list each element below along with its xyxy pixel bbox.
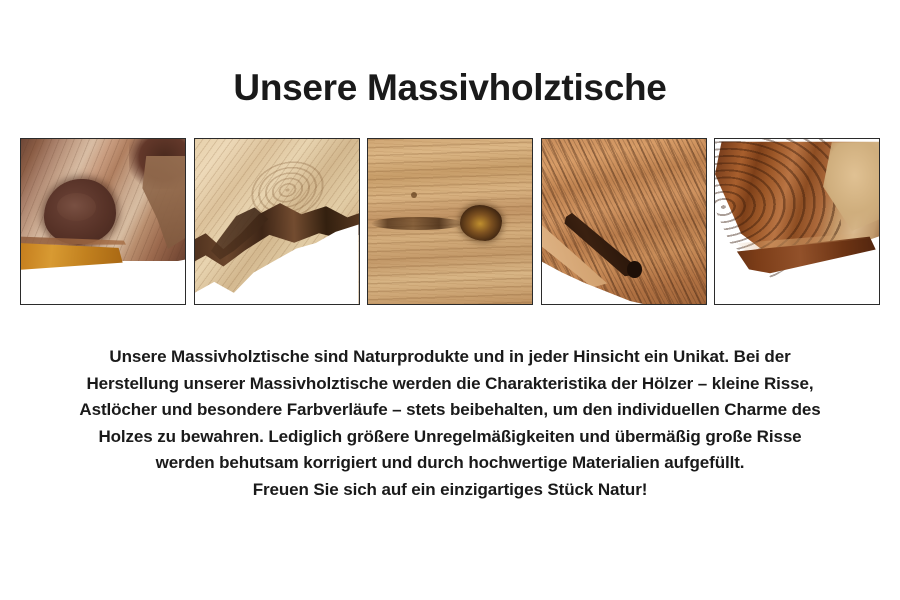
body-line-2: Herstellung unserer Massivholztische wer… bbox=[20, 371, 880, 398]
page-title: Unsere Massivholztische bbox=[0, 68, 900, 109]
gallery-panel-4[interactable] bbox=[541, 138, 707, 305]
body-line-5: werden behutsam korrigiert und durch hoc… bbox=[20, 450, 880, 477]
wood-crack-sawmark-image bbox=[542, 139, 706, 304]
body-line-1: Unsere Massivholztische sind Naturproduk… bbox=[20, 344, 880, 371]
wood-knot-grain-image bbox=[368, 139, 532, 304]
wood-sheesham-corner-image bbox=[715, 139, 879, 304]
gallery-panel-1[interactable] bbox=[20, 138, 186, 305]
wood-live-edge-image bbox=[195, 139, 359, 304]
gallery-panel-2[interactable] bbox=[194, 138, 360, 305]
body-description: Unsere Massivholztische sind Naturproduk… bbox=[20, 344, 880, 503]
body-line-3: Astlöcher und besondere Farbverläufe – s… bbox=[20, 397, 880, 424]
wood-slab-burl-image bbox=[21, 139, 185, 304]
gallery-panel-3[interactable] bbox=[367, 138, 533, 305]
infographic-page: Unsere Massivholztische bbox=[0, 0, 900, 600]
gallery-panel-5[interactable] bbox=[714, 138, 880, 305]
image-gallery bbox=[20, 138, 880, 305]
body-line-4: Holzes zu bewahren. Lediglich größere Un… bbox=[20, 424, 880, 451]
body-line-6: Freuen Sie sich auf ein einzigartiges St… bbox=[20, 477, 880, 504]
